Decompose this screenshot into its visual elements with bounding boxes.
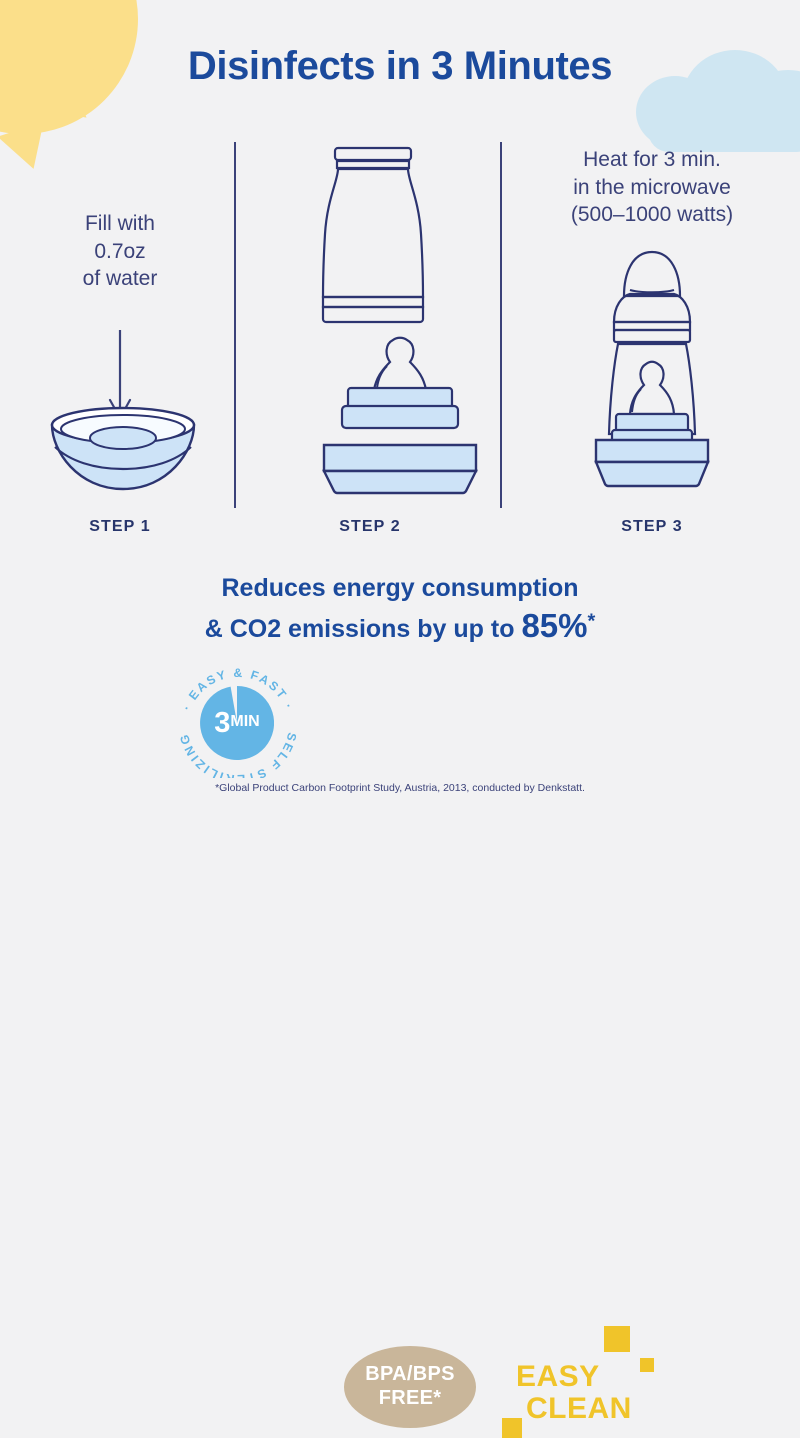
- sparkle-icon: [640, 1358, 654, 1372]
- page-title: Disinfects in 3 Minutes: [0, 44, 800, 89]
- badge-easy-clean: EASY CLEAN: [512, 1332, 672, 1438]
- bowl-with-water-icon: [48, 405, 198, 495]
- step-2-label: STEP 2: [250, 518, 490, 536]
- badge-row: · EASY & FAST · SELF STERILIZING 3 MIN B…: [0, 664, 800, 774]
- claim-line-2: & CO2 emissions by up to 85%*: [0, 605, 800, 648]
- claim-asterisk: *: [588, 610, 596, 632]
- claim-prefix: & CO2 emissions by up to: [205, 615, 522, 643]
- teat-with-collar-icon: [332, 336, 468, 432]
- step-column-1: Fill with 0.7oz of water: [10, 130, 230, 293]
- badge-bpa-bps-free: BPA/BPS FREE*: [344, 1346, 476, 1428]
- step-1-caption: Fill with 0.7oz of water: [10, 210, 230, 293]
- badge-center-label: 3 MIN: [200, 686, 274, 760]
- step-3-caption: Heat for 3 min. in the microwave (500–10…: [512, 146, 792, 229]
- base-container-icon: [318, 440, 482, 498]
- step-3-label: STEP 3: [512, 518, 792, 536]
- badge-self-sterilizing: · EASY & FAST · SELF STERILIZING 3 MIN: [178, 666, 298, 778]
- easy-clean-line-1: EASY: [516, 1360, 600, 1394]
- column-divider: [500, 142, 502, 508]
- energy-claim: Reduces energy consumption & CO2 emissio…: [0, 572, 800, 647]
- step-column-3: Heat for 3 min. in the microwave (500–10…: [512, 130, 792, 229]
- bottle-body-icon: [318, 142, 428, 327]
- claim-line-1: Reduces energy consumption: [0, 572, 800, 605]
- assembled-bottle-in-base-icon: [590, 248, 714, 498]
- step-1-label: STEP 1: [10, 518, 230, 536]
- footnote: *Global Product Carbon Footprint Study, …: [0, 782, 800, 794]
- infographic-canvas: Disinfects in 3 Minutes Fill with 0.7oz …: [0, 0, 800, 800]
- sparkle-icon: [502, 1418, 522, 1438]
- bpa-line-1: BPA/BPS: [365, 1363, 455, 1387]
- easy-clean-line-2: CLEAN: [526, 1392, 632, 1426]
- bpa-line-2: FREE*: [379, 1387, 442, 1411]
- sparkle-icon: [604, 1326, 630, 1352]
- badge-minutes-unit: MIN: [230, 714, 259, 732]
- column-divider: [234, 142, 236, 508]
- badge-minutes-number: 3: [214, 709, 230, 738]
- claim-percentage: 85%: [521, 607, 587, 644]
